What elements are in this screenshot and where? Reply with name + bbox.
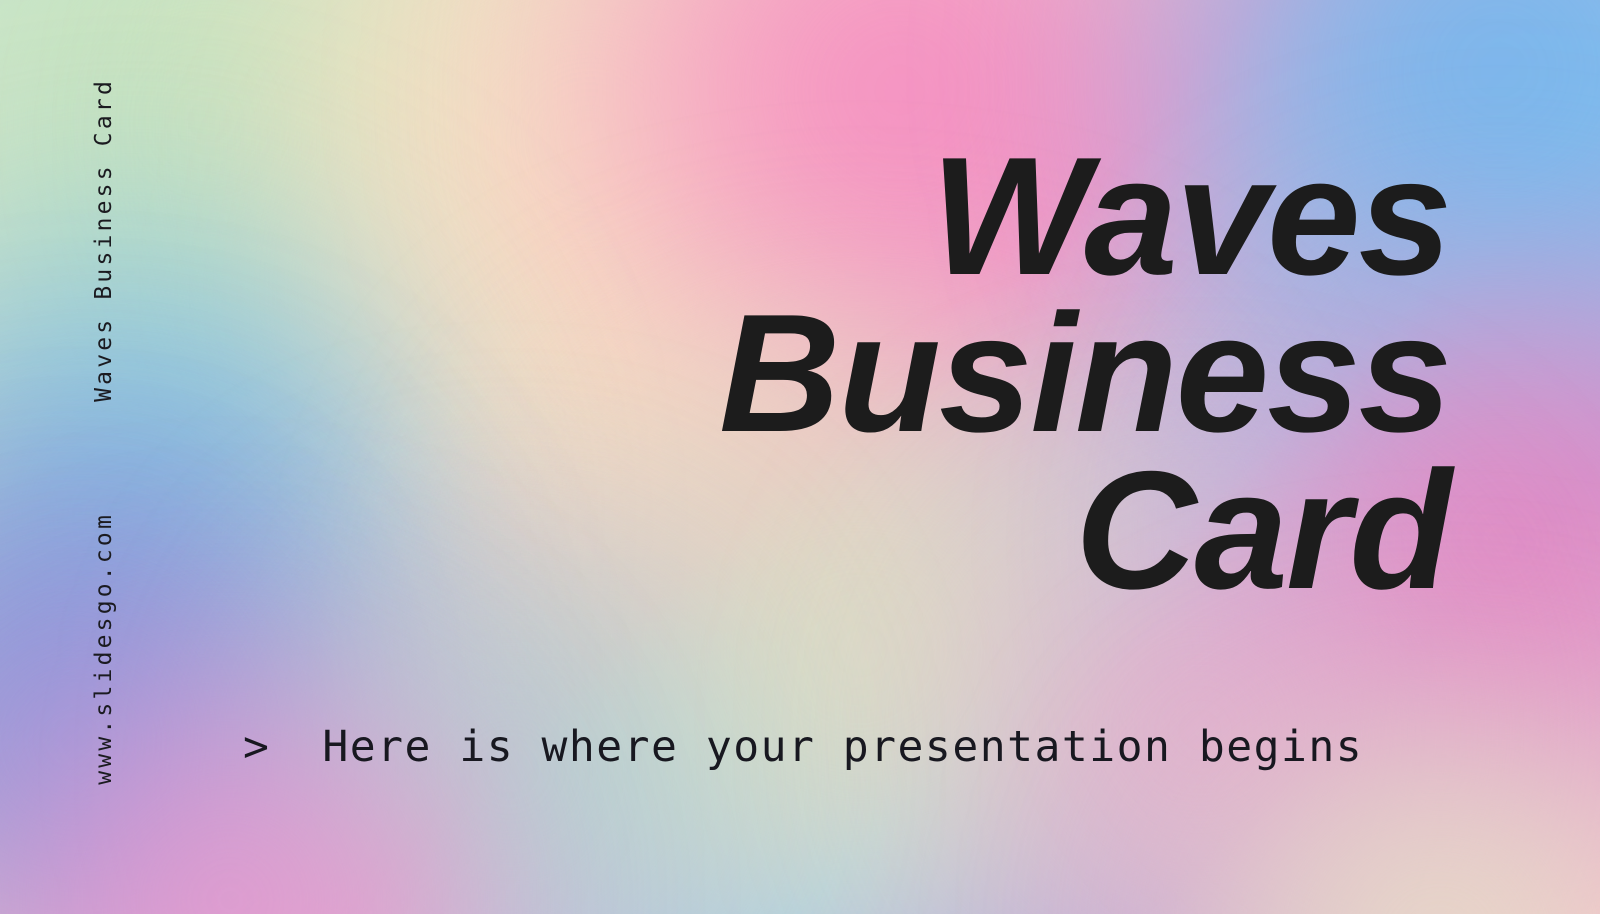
business-card-slide: Waves Business Card www.slidesgo.com Wav… <box>0 0 1600 914</box>
subtitle-text: Here is where your presentation begins <box>322 722 1363 774</box>
vertical-label-website-url: www.slidesgo.com <box>93 512 116 785</box>
chevron-right-icon: > <box>243 722 270 774</box>
subtitle: > Here is where your presentation begins <box>243 722 1363 774</box>
vertical-label-title: Waves Business Card <box>93 78 116 402</box>
page-title-line-1: Waves <box>450 138 1450 295</box>
page-title: Waves Business Card <box>450 138 1450 609</box>
page-title-line-2: Business <box>450 295 1450 452</box>
page-title-line-3: Card <box>450 452 1450 609</box>
